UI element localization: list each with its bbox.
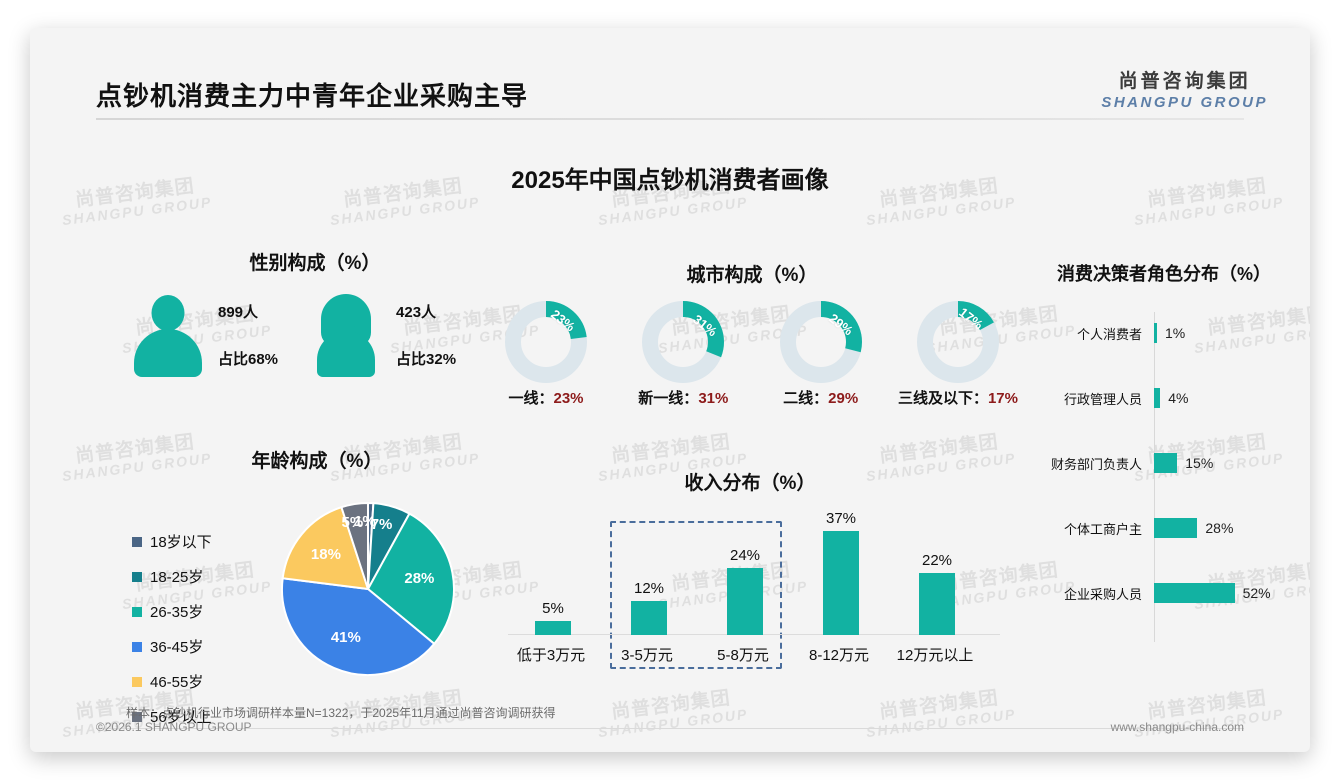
income-bar-value: 37% — [798, 510, 884, 527]
income-bar-chart: 5%低于3万元12%3-5万元24%5-8万元37%8-12万元22%12万元以… — [500, 509, 1000, 669]
legend-swatch — [132, 607, 142, 617]
city-donut-item: 29%二线：29% — [757, 301, 885, 408]
legend-swatch — [132, 642, 142, 652]
city-donut-item: 17%三线及以下：17% — [894, 301, 1022, 408]
legend-item: 26-35岁 — [132, 601, 212, 622]
slide-footer: ©2026.1 SHANGPU GROUP www.shangpu-china.… — [30, 720, 1310, 740]
male-count: 899人 — [218, 301, 278, 322]
role-value: 52% — [1243, 585, 1271, 601]
income-bar-value: 22% — [894, 552, 980, 569]
legend-label: 18-25岁 — [150, 566, 203, 587]
legend-item: 36-45岁 — [132, 636, 212, 657]
role-label: 个人消费者 — [1030, 324, 1148, 343]
role-label: 财务部门负责人 — [1030, 454, 1148, 473]
income-bar-category: 低于3万元 — [508, 644, 594, 665]
donut-caption-value: 29% — [828, 390, 858, 407]
male-share: 占比68% — [218, 348, 278, 369]
website-url: www.shangpu-china.com — [1111, 720, 1244, 734]
income-bar-category: 12万元以上 — [892, 644, 978, 665]
income-bar — [919, 573, 955, 635]
role-bar — [1154, 388, 1160, 408]
age-section-title: 年龄构成（%） — [148, 446, 486, 473]
legend-swatch — [132, 572, 142, 582]
legend-label: 36-45岁 — [150, 636, 203, 657]
role-label: 个体工商户主 — [1030, 519, 1148, 538]
donut-caption-value: 17% — [988, 390, 1018, 407]
slide-header: 点钞机消费主力中青年企业采购主导 尚普咨询集团 SHANGPU GROUP — [30, 28, 1310, 120]
income-bar-column — [894, 573, 980, 635]
donut-chart: 23% — [498, 301, 594, 383]
role-value: 1% — [1165, 325, 1185, 341]
role-bar — [1154, 583, 1235, 603]
legend-label: 18岁以下 — [150, 531, 212, 552]
role-bar — [1154, 453, 1177, 473]
donut-caption-name: 新一线： — [638, 390, 698, 407]
income-bar-value: 12% — [606, 580, 692, 597]
role-bar — [1154, 518, 1197, 538]
income-bar — [631, 601, 667, 635]
donut-chart: 17% — [910, 301, 1006, 383]
gender-figures: 899人 占比68% 423人 占比32% — [120, 293, 480, 377]
pie-slice-label: 18% — [311, 546, 341, 563]
decision-role-section: 消费决策者角色分布（%） 个人消费者1%行政管理人员4%财务部门负责人15%个体… — [1030, 260, 1298, 642]
gender-section-title: 性别构成（%） — [150, 248, 480, 275]
income-bar-category: 8-12万元 — [796, 644, 882, 665]
role-value: 28% — [1205, 520, 1233, 536]
age-pie-chart: 1%7%28%41%18%5% — [276, 497, 460, 686]
age-composition-section: 年龄构成（%） 18岁以下18-25岁26-35岁36-45岁46-55岁56岁… — [126, 446, 486, 693]
donut-caption: 三线及以下：17% — [894, 387, 1022, 408]
legend-item: 18-25岁 — [132, 566, 212, 587]
role-label: 行政管理人员 — [1030, 389, 1148, 408]
chart-subtitle: 2025年中国点钞机消费者画像 — [30, 160, 1310, 195]
age-pie-area: 18岁以下18-25岁26-35岁36-45岁46-55岁56岁以上 1%7%2… — [126, 483, 486, 693]
pie-slice-label: 7% — [371, 516, 393, 533]
role-section-title: 消费决策者角色分布（%） — [1030, 260, 1298, 286]
gender-composition-section: 性别构成（%） 899人 占比68% 423人 占比32% — [120, 248, 480, 377]
copyright-text: ©2026.1 SHANGPU GROUP — [96, 720, 252, 734]
role-bar-row: 个体工商户主28% — [1030, 515, 1298, 541]
city-donut-row: 23%一线：23%31%新一线：31%29%二线：29%17%三线及以下：17% — [482, 301, 1022, 408]
legend-swatch — [132, 537, 142, 547]
pie-slice-label: 28% — [404, 570, 434, 587]
income-bar — [535, 621, 571, 635]
male-stats: 899人 占比68% — [218, 301, 278, 369]
female-silhouette-icon — [310, 293, 382, 377]
donut-caption: 一线：23% — [482, 387, 610, 408]
city-composition-section: 城市构成（%） 23%一线：23%31%新一线：31%29%二线：29%17%三… — [482, 260, 1022, 408]
role-bar-row: 企业采购人员52% — [1030, 580, 1298, 606]
legend-item: 46-55岁 — [132, 671, 212, 692]
legend-label: 46-55岁 — [150, 671, 203, 692]
donut-caption: 二线：29% — [757, 387, 885, 408]
female-count: 423人 — [396, 301, 456, 322]
income-distribution-section: 收入分布（%） 5%低于3万元12%3-5万元24%5-8万元37%8-12万元… — [500, 468, 1000, 669]
logo-text-en: SHANGPU GROUP — [1101, 94, 1268, 111]
female-share: 占比32% — [396, 348, 456, 369]
donut-caption: 新一线：31% — [619, 387, 747, 408]
role-bar-row: 财务部门负责人15% — [1030, 450, 1298, 476]
donut-chart: 29% — [773, 301, 869, 383]
logo-text-cn: 尚普咨询集团 — [1101, 66, 1268, 93]
legend-item: 18岁以下 — [132, 531, 212, 552]
income-bar-value: 5% — [510, 600, 596, 617]
income-bar-value: 24% — [702, 547, 788, 564]
donut-caption-name: 三线及以下： — [898, 390, 988, 407]
role-bar-row: 个人消费者1% — [1030, 320, 1298, 346]
role-bar-chart: 个人消费者1%行政管理人员4%财务部门负责人15%个体工商户主28%企业采购人员… — [1030, 312, 1298, 642]
income-section-title: 收入分布（%） — [500, 468, 1000, 495]
gender-male-item: 899人 占比68% — [132, 293, 278, 377]
role-bar-row: 行政管理人员4% — [1030, 385, 1298, 411]
income-bar-category: 5-8万元 — [700, 644, 786, 665]
income-bar-column — [606, 601, 692, 635]
pie-slice-label: 5% — [342, 514, 364, 531]
city-donut-item: 31%新一线：31% — [619, 301, 747, 408]
donut-caption-name: 一线： — [508, 390, 553, 407]
role-label: 企业采购人员 — [1030, 584, 1148, 603]
header-divider — [96, 118, 1244, 120]
city-section-title: 城市构成（%） — [482, 260, 1022, 287]
donut-caption-name: 二线： — [783, 390, 828, 407]
pie-slice-label: 41% — [331, 629, 361, 646]
sample-note: 样本：点钞机行业市场调研样本量N=1322，于2025年11月通过尚普咨询调研获… — [126, 704, 556, 721]
female-stats: 423人 占比32% — [396, 301, 456, 369]
donut-caption-value: 23% — [553, 390, 583, 407]
income-bar-column — [702, 568, 788, 635]
city-donut-item: 23%一线：23% — [482, 301, 610, 408]
legend-swatch — [132, 677, 142, 687]
brand-logo: 尚普咨询集团 SHANGPU GROUP — [1101, 66, 1268, 111]
male-silhouette-icon — [132, 293, 204, 377]
slide-canvas: 尚普咨询集团SHANGPU GROUP尚普咨询集团SHANGPU GROUP尚普… — [30, 28, 1310, 752]
role-value: 15% — [1185, 455, 1213, 471]
income-bar — [823, 531, 859, 635]
income-bar-category: 3-5万元 — [604, 644, 690, 665]
income-bar-column — [510, 621, 596, 635]
role-bar — [1154, 323, 1157, 343]
donut-caption-value: 31% — [698, 390, 728, 407]
role-value: 4% — [1168, 390, 1188, 406]
income-bar — [727, 568, 763, 635]
gender-female-item: 423人 占比32% — [310, 293, 456, 377]
income-bar-column — [798, 531, 884, 635]
donut-chart: 31% — [635, 301, 731, 383]
legend-label: 26-35岁 — [150, 601, 203, 622]
page-title: 点钞机消费主力中青年企业采购主导 — [96, 76, 528, 113]
